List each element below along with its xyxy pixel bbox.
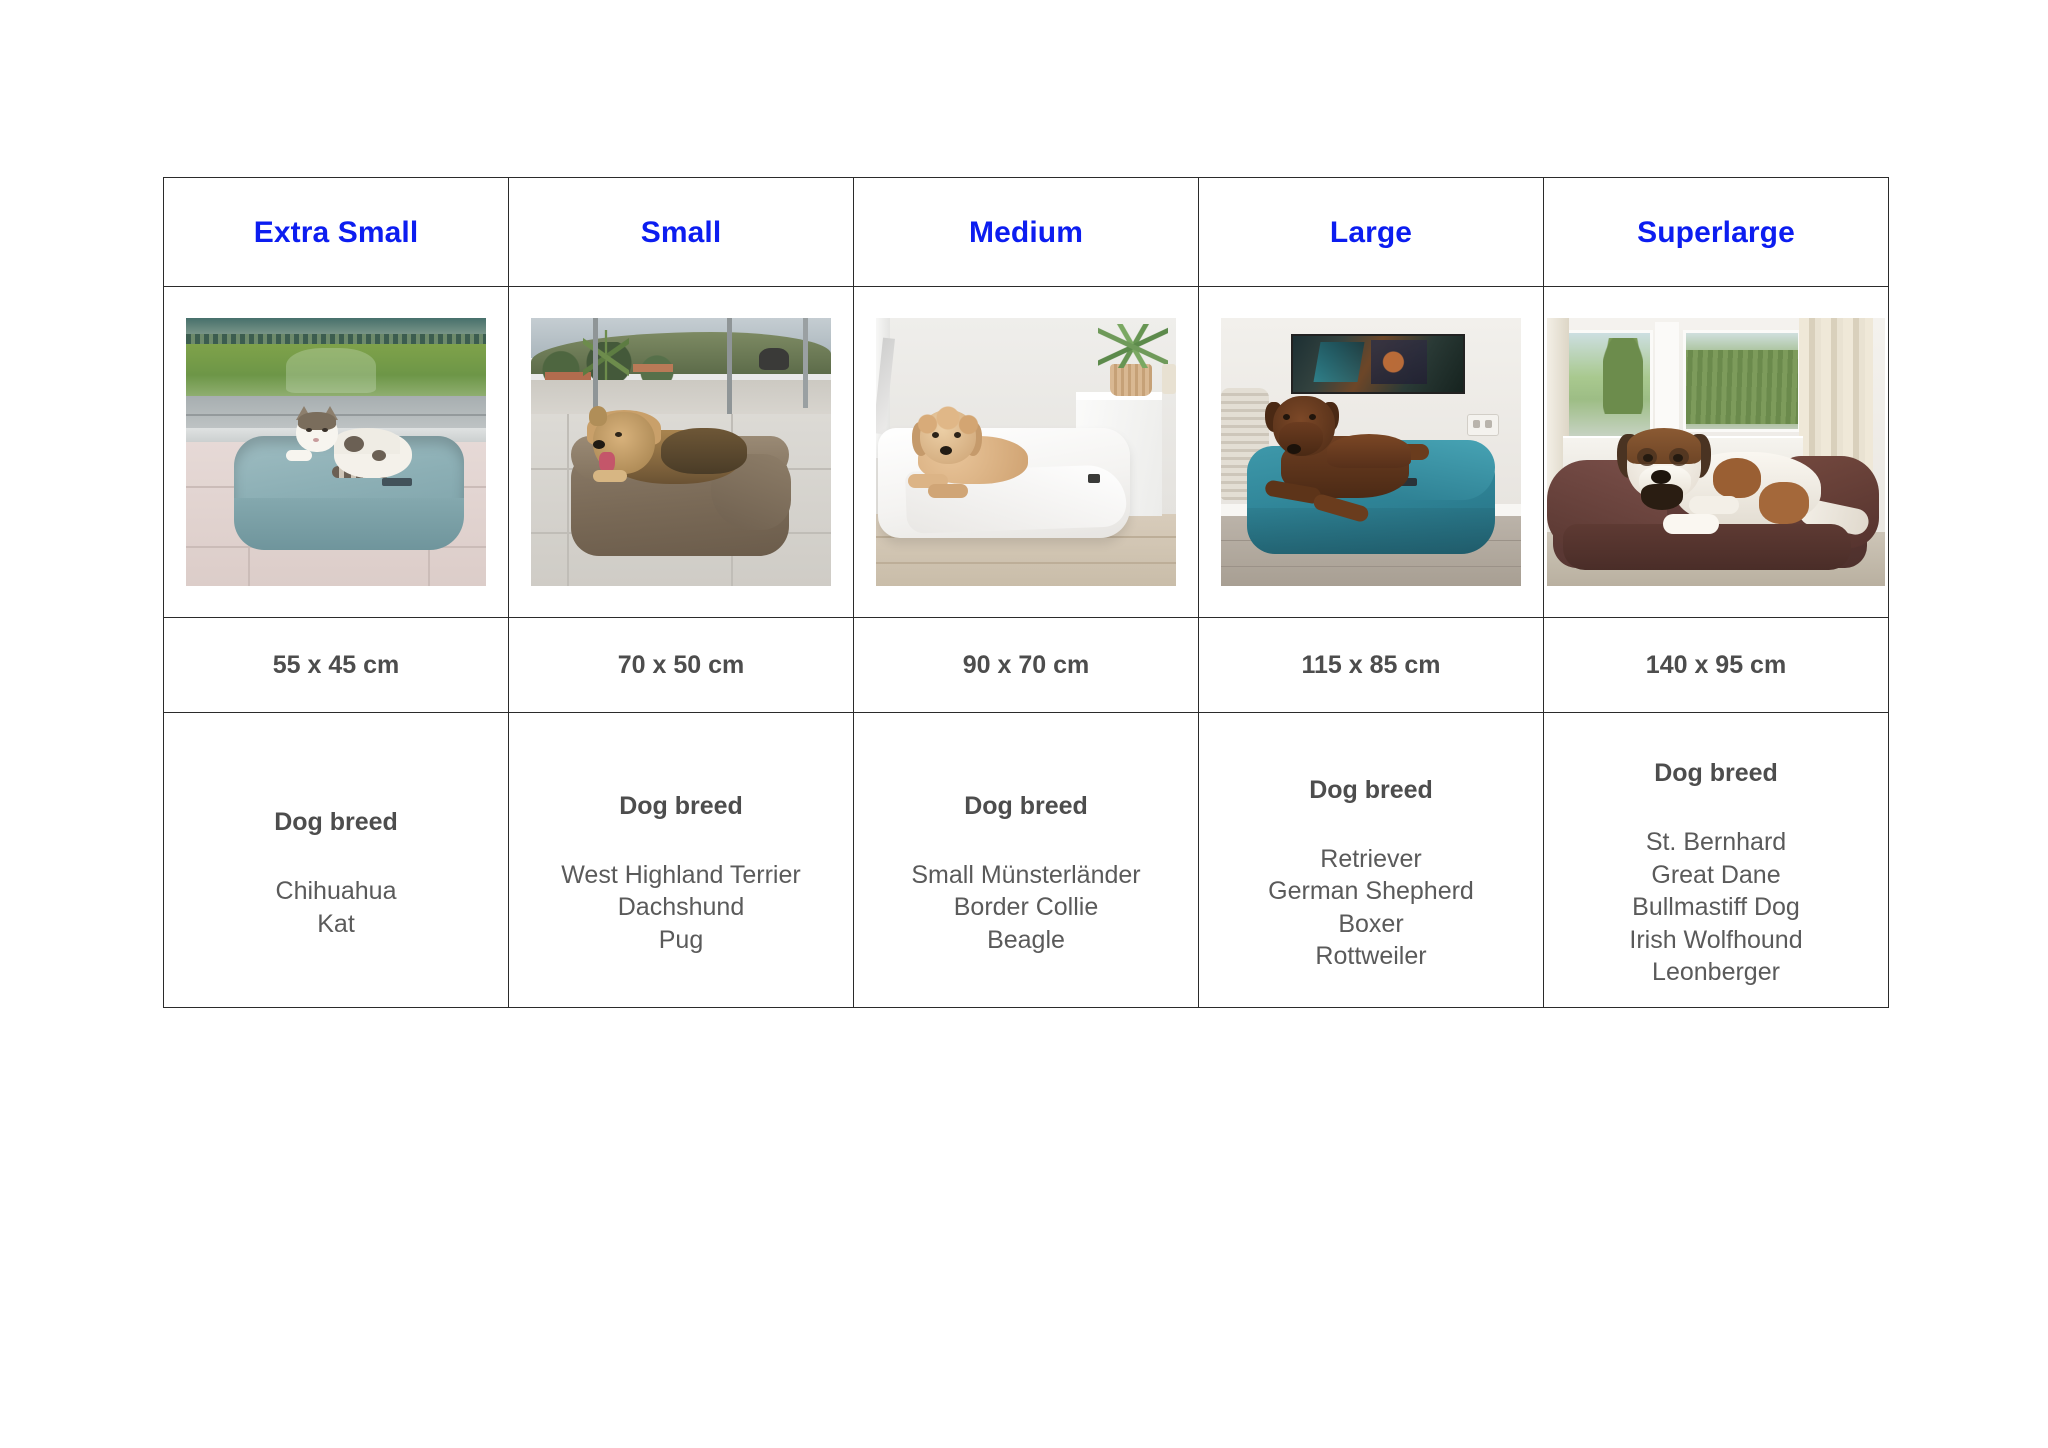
dog-back (661, 428, 747, 474)
breed-list-container: Dog breed St. Bernhard Great Dane Bullma… (1544, 731, 1888, 989)
dimensions-cell-small: 70 x 50 cm (509, 618, 854, 713)
scene-window-frame-right (1683, 330, 1801, 432)
scene-rooftop (633, 364, 673, 372)
cat-spot (372, 450, 386, 461)
cat-head-marking (298, 412, 336, 430)
breed-item: Dachshund (509, 891, 853, 924)
size-header-label: Extra Small (164, 216, 508, 249)
photo-wrapper (1544, 287, 1888, 617)
breeds-cell-superlarge: Dog breed St. Bernhard Great Dane Bullma… (1544, 713, 1889, 1008)
dog-eye-left (1283, 414, 1290, 420)
breeds-cell-extra-small: Dog breed Chihuahua Kat (164, 713, 509, 1008)
dog-eye-right (954, 432, 961, 438)
dog-paw (928, 484, 968, 498)
breeds-cell-small: Dog breed West Highland Terrier Dachshun… (509, 713, 854, 1008)
product-photo-small (531, 318, 831, 586)
breed-section-title: Dog breed (1544, 759, 1888, 788)
product-photo-medium (876, 318, 1176, 586)
breed-item: Border Collie (854, 891, 1198, 924)
dog-nose (940, 446, 952, 455)
dog-eye-right (1309, 414, 1316, 420)
breeds-cell-medium: Dog breed Small Münsterländer Border Col… (854, 713, 1199, 1008)
table-header-row: Extra Small Small Medium Large Superlarg… (164, 178, 1889, 287)
scene-socket-hole (1485, 420, 1492, 428)
floor-plank-line (1221, 566, 1521, 567)
header-cell-small: Small (509, 178, 854, 287)
product-photo-superlarge (1547, 318, 1885, 586)
dog-jowl (1641, 484, 1683, 510)
photo-cell-superlarge (1544, 287, 1889, 618)
table-photo-row (164, 287, 1889, 618)
dog-paw (593, 470, 627, 482)
dog-back (1327, 434, 1411, 468)
table-breeds-row: Dog breed Chihuahua Kat Dog breed West H… (164, 713, 1889, 1008)
cat-nose (313, 438, 319, 442)
page-root: Extra Small Small Medium Large Superlarg… (0, 0, 2048, 1448)
breed-item: Chihuahua (164, 875, 508, 908)
photo-cell-small (509, 287, 854, 618)
window-mullion (727, 318, 732, 414)
header-cell-large: Large (1199, 178, 1544, 287)
breed-item: Small Münsterländer (854, 859, 1198, 892)
dog-nose (1651, 470, 1671, 484)
scene-hedge (186, 334, 486, 344)
dog-bed-size-table: Extra Small Small Medium Large Superlarg… (163, 177, 1889, 1008)
breed-section-title: Dog breed (509, 792, 853, 821)
photo-wrapper (164, 287, 508, 617)
size-header-label: Superlarge (1544, 216, 1888, 249)
breed-item: St. Bernhard (1544, 826, 1888, 859)
breed-list-container: Dog breed Chihuahua Kat (164, 780, 508, 940)
scene-power-socket (1467, 414, 1499, 436)
breed-section-title: Dog breed (854, 792, 1198, 821)
scene-wall-art-detail (1313, 342, 1364, 382)
breed-item: German Shepherd (1199, 875, 1543, 908)
floor-grout-line (567, 414, 569, 586)
cat-eye-right (322, 428, 328, 432)
breed-item: Boxer (1199, 908, 1543, 941)
dimensions-cell-superlarge: 140 x 95 cm (1544, 618, 1889, 713)
breeds-cell-large: Dog breed Retriever German Shepherd Boxe… (1199, 713, 1544, 1008)
photo-wrapper (1199, 287, 1543, 617)
breed-list-container: Dog breed Retriever German Shepherd Boxe… (1199, 748, 1543, 973)
dog-eye-right (1673, 454, 1683, 462)
photo-cell-large (1199, 287, 1544, 618)
dog-paw (1689, 496, 1739, 514)
dimensions-cell-medium: 90 x 70 cm (854, 618, 1199, 713)
dimensions-cell-extra-small: 55 x 45 cm (164, 618, 509, 713)
scene-plant-leaves (1098, 324, 1168, 368)
photo-wrapper (509, 287, 853, 617)
dog-eye-left (932, 432, 939, 438)
breed-item: Irish Wolfhound (1544, 924, 1888, 957)
breed-item: Leonberger (1544, 956, 1888, 989)
breed-section-title: Dog breed (164, 808, 508, 837)
breed-item: Bullmastiff Dog (1544, 891, 1888, 924)
breed-item: Retriever (1199, 843, 1543, 876)
bed-dimensions-label: 70 x 50 cm (509, 651, 853, 680)
dog-eye-left (1643, 454, 1653, 462)
photo-cell-extra-small (164, 287, 509, 618)
dog-head-curls (916, 406, 980, 436)
dog-paw (1663, 514, 1719, 534)
photo-wrapper (854, 287, 1198, 617)
scene-outdoor-object (759, 348, 789, 370)
dog-coat-patch (1759, 482, 1809, 524)
header-cell-medium: Medium (854, 178, 1199, 287)
scene-candle (1162, 364, 1176, 394)
scene-plant-pot (1110, 364, 1152, 396)
floor-plank-line (876, 562, 1176, 564)
scene-reflection (286, 348, 376, 393)
size-header-label: Small (509, 216, 853, 249)
scene-wall-art-detail (1371, 340, 1427, 384)
breed-section-title: Dog breed (1199, 776, 1543, 805)
breed-list-container: Dog breed Small Münsterländer Border Col… (854, 764, 1198, 957)
dog-bed-shadow (1247, 508, 1495, 554)
bed-dimensions-label: 115 x 85 cm (1199, 651, 1543, 680)
dog-coat-patch (1713, 458, 1761, 498)
breed-item: Pug (509, 924, 853, 957)
cat-paw (286, 450, 312, 461)
breed-item: West Highland Terrier (509, 859, 853, 892)
bed-dimensions-label: 140 x 95 cm (1544, 651, 1888, 680)
breed-list-container: Dog breed West Highland Terrier Dachshun… (509, 764, 853, 957)
scene-window-frame-left (1563, 330, 1653, 442)
table-dimensions-row: 55 x 45 cm 70 x 50 cm 90 x 70 cm 115 x 8… (164, 618, 1889, 713)
scene-terrace (531, 380, 831, 418)
dog-snout (1279, 422, 1323, 456)
brand-label-tag (382, 478, 412, 486)
cat-eye-left (306, 428, 312, 432)
product-photo-large (1221, 318, 1521, 586)
dog-nose (1287, 444, 1301, 454)
scene-palm (583, 330, 629, 384)
brand-label-tag (1088, 474, 1100, 483)
bed-dimensions-label: 90 x 70 cm (854, 651, 1198, 680)
dog-bed-base (234, 498, 464, 550)
size-header-label: Large (1199, 216, 1543, 249)
window-mullion (803, 318, 808, 408)
dog-nose (593, 440, 605, 449)
dog-eye (615, 432, 622, 437)
breed-item: Kat (164, 908, 508, 941)
breed-item: Beagle (854, 924, 1198, 957)
bed-dimensions-label: 55 x 45 cm (164, 651, 508, 680)
cat-spot (344, 436, 364, 452)
header-cell-superlarge: Superlarge (1544, 178, 1889, 287)
product-photo-extra-small (186, 318, 486, 586)
dimensions-cell-large: 115 x 85 cm (1199, 618, 1544, 713)
dog-ear (589, 406, 607, 426)
scene-socket-hole (1473, 420, 1480, 428)
breed-item: Rottweiler (1199, 940, 1543, 973)
header-cell-extra-small: Extra Small (164, 178, 509, 287)
breed-item: Great Dane (1544, 859, 1888, 892)
size-header-label: Medium (854, 216, 1198, 249)
photo-cell-medium (854, 287, 1199, 618)
